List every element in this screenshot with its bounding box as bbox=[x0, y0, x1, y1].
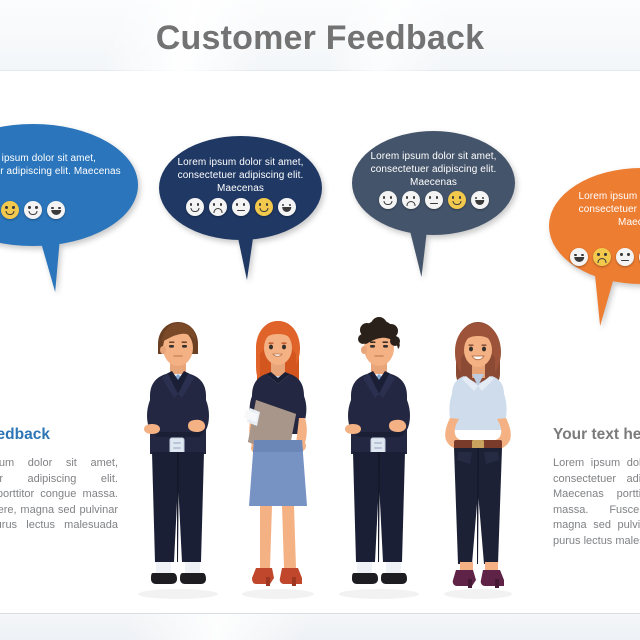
bubble-1-body bbox=[0, 124, 138, 246]
emoji-frown[interactable] bbox=[209, 198, 227, 216]
emoji-smile[interactable] bbox=[24, 201, 42, 219]
person-businesswoman-1 bbox=[226, 314, 326, 600]
left-text-block: Your Feedback Lorem ipsum dolor sit amet… bbox=[0, 425, 118, 549]
footer-band bbox=[0, 613, 640, 640]
bubble-2-emoji-row[interactable] bbox=[159, 198, 322, 216]
emoji-yellow-smile[interactable] bbox=[1, 201, 19, 219]
person-businesswoman-2 bbox=[428, 314, 528, 600]
bubble-2-text: Lorem ipsum dolor sit amet, consectetuer… bbox=[159, 156, 322, 195]
page-title: Customer Feedback bbox=[0, 19, 640, 58]
right-block-body: Lorem ipsum dolor sit amet, consectetuer… bbox=[553, 456, 640, 549]
emoji-laugh[interactable] bbox=[570, 248, 588, 266]
speech-bubble-4[interactable]: Lorem ipsum dolor sit amet, consectetuer… bbox=[549, 168, 640, 284]
right-block-heading: Your text here bbox=[553, 425, 640, 444]
bubble-3-text: Lorem ipsum dolor sit amet, consectetuer… bbox=[352, 150, 515, 189]
emoji-neutral[interactable] bbox=[425, 191, 443, 209]
speech-bubble-2[interactable]: Lorem ipsum dolor sit amet, consectetuer… bbox=[159, 136, 322, 240]
footer-sheen bbox=[0, 614, 640, 640]
bubble-1-text: Lorem ipsum dolor sit amet, consectetuer… bbox=[0, 152, 138, 178]
slide-canvas: Customer Feedback Lorem ipsum dolor sit … bbox=[0, 0, 640, 640]
emoji-neutral[interactable] bbox=[232, 198, 250, 216]
person-businessman-2 bbox=[325, 314, 429, 600]
emoji-smile[interactable] bbox=[379, 191, 397, 209]
emoji-laugh[interactable] bbox=[47, 201, 65, 219]
speech-bubble-3[interactable]: Lorem ipsum dolor sit amet, consectetuer… bbox=[352, 131, 515, 235]
emoji-laugh[interactable] bbox=[471, 191, 489, 209]
speech-bubble-1[interactable]: Lorem ipsum dolor sit amet, consectetuer… bbox=[0, 124, 138, 246]
bubble-4-emoji-row[interactable] bbox=[549, 248, 640, 266]
bubble-4-tail bbox=[576, 264, 618, 326]
emoji-yellow-smile[interactable] bbox=[448, 191, 466, 209]
bubble-4-text: Lorem ipsum dolor sit amet, consectetuer… bbox=[549, 190, 640, 229]
right-text-block: Your text here Lorem ipsum dolor sit ame… bbox=[553, 425, 640, 549]
left-block-body: Lorem ipsum dolor sit amet, consectetuer… bbox=[0, 456, 118, 549]
emoji-neutral[interactable] bbox=[616, 248, 634, 266]
emoji-frown[interactable] bbox=[402, 191, 420, 209]
emoji-laugh[interactable] bbox=[278, 198, 296, 216]
emoji-yellow-frown[interactable] bbox=[593, 248, 611, 266]
bubble-3-emoji-row[interactable] bbox=[352, 191, 515, 209]
bubble-1-emoji-row[interactable] bbox=[0, 201, 138, 219]
person-businessman-1 bbox=[124, 314, 228, 600]
emoji-yellow-smile[interactable] bbox=[255, 198, 273, 216]
left-block-heading: Your Feedback bbox=[0, 425, 118, 444]
emoji-smile[interactable] bbox=[186, 198, 204, 216]
